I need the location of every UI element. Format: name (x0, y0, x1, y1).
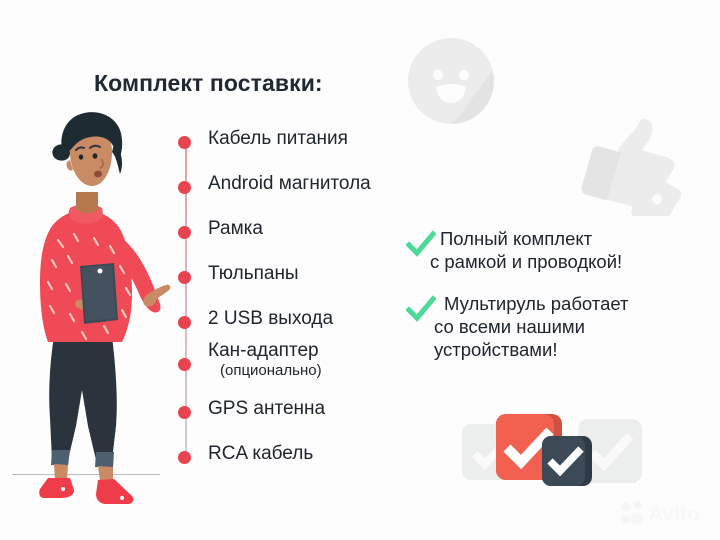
bullet-dot-icon (178, 316, 191, 329)
checkbox-squares-icon (462, 414, 642, 486)
list-item-label: Кан-адаптер (208, 340, 319, 362)
bullet-dot-icon (178, 406, 191, 419)
benefit-line: со всеми нашими (434, 315, 585, 338)
bullet-dot-icon (178, 358, 191, 371)
bullet-dot-icon (178, 136, 191, 149)
benefit-line: с рамкой и проводкой! (430, 250, 622, 273)
benefit-line: Полный комплект (440, 227, 592, 250)
avito-watermark: Avito (618, 498, 714, 528)
bullet-dot-icon (178, 226, 191, 239)
page-title: Комплект поставки: (94, 70, 323, 97)
avito-wordmark: Avito (648, 503, 700, 526)
benefit-line: Мультируль работает (444, 292, 629, 315)
bullet-dot-icon (178, 451, 191, 464)
woman-with-tablet-illustration (8, 108, 178, 508)
list-item-label: RCA кабель (208, 443, 313, 465)
bullet-dot-icon (178, 271, 191, 284)
list-item-label: Рамка (208, 218, 263, 240)
list-item-label: Кабель питания (208, 128, 348, 150)
smiley-face-icon (408, 38, 494, 124)
thumbs-up-icon (578, 112, 686, 216)
promo-image-canvas: Комплект поставки: Кабель питания Androi… (0, 0, 720, 540)
bullet-dot-icon (178, 181, 191, 194)
check-icon (406, 295, 436, 325)
list-item-label: Тюльпаны (208, 263, 299, 285)
benefit-line: устройствами! (434, 338, 558, 361)
list-item-label: 2 USB выхода (208, 308, 333, 330)
list-item-note: (опционально) (220, 362, 322, 379)
list-item-label: Android магнитола (208, 173, 371, 195)
list-item-label: GPS антенна (208, 398, 325, 420)
